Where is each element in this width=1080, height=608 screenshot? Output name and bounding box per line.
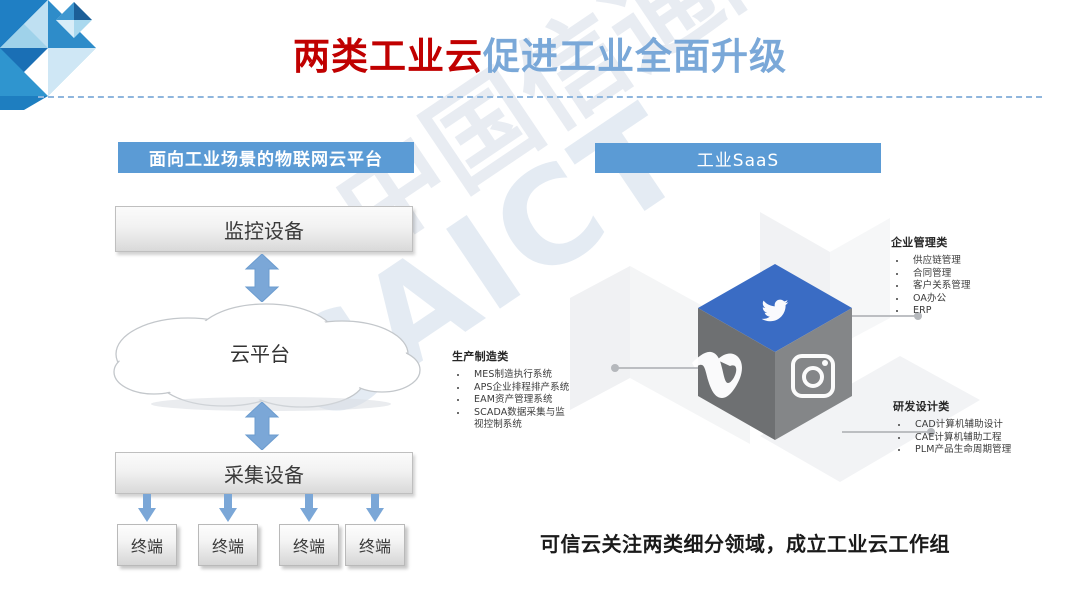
category-item: 供应链管理 xyxy=(891,255,1051,268)
category-rnd-design: 研发设计类 CAD计算机辅助设计 CAE计算机辅助工程 PLM产品生命周期管理 xyxy=(893,398,1063,457)
arrow-cloud-collect xyxy=(244,402,280,450)
terminal-box: 终端 xyxy=(117,524,177,566)
category-item: 合同管理 xyxy=(891,268,1051,281)
arrow-to-terminal-2 xyxy=(219,494,237,522)
arrow-to-terminal-3 xyxy=(300,494,318,522)
category-item-list: 供应链管理 合同管理 客户关系管理 OA办公 ERP xyxy=(891,255,1051,318)
category-item: SCADA数据采集与监视控制系统 xyxy=(452,407,572,432)
right-panel-header: 工业SaaS xyxy=(595,143,881,173)
left-panel-header: 面向工业场景的物联网云平台 xyxy=(118,142,414,173)
collect-device-box: 采集设备 xyxy=(115,452,413,494)
terminal-box: 终端 xyxy=(198,524,258,566)
title-divider xyxy=(38,96,1042,98)
category-item: EAM资产管理系统 xyxy=(452,394,572,407)
terminal-box: 终端 xyxy=(345,524,405,566)
category-enterprise-management: 企业管理类 供应链管理 合同管理 客户关系管理 OA办公 ERP xyxy=(891,234,1051,318)
terminal-box: 终端 xyxy=(279,524,339,566)
bottom-caption: 可信云关注两类细分领域，成立工业云工作组 xyxy=(540,528,950,557)
category-item: CAE计算机辅助工程 xyxy=(893,432,1063,445)
monitor-device-box: 监控设备 xyxy=(115,206,413,252)
arrow-to-terminal-4 xyxy=(366,494,384,522)
category-item: OA办公 xyxy=(891,293,1051,306)
cloud-platform-label: 云平台 xyxy=(180,338,340,367)
category-manufacturing: 生产制造类 MES制造执行系统 APS企业排程排产系统 EAM资产管理系统 SC… xyxy=(452,348,572,432)
category-title: 企业管理类 xyxy=(891,234,1051,250)
page-title-blue: 促进工业全面升级 xyxy=(483,35,787,78)
slide-canvas: 中国信通院 CAICT 两类工业云促进工业全面升级 面向工业场景的物联网云平台 … xyxy=(0,0,1080,608)
category-title: 生产制造类 xyxy=(452,348,572,364)
category-item: CAD计算机辅助设计 xyxy=(893,419,1063,432)
page-title: 两类工业云促进工业全面升级 xyxy=(0,26,1080,80)
category-item: MES制造执行系统 xyxy=(452,369,572,382)
category-item-list: CAD计算机辅助设计 CAE计算机辅助工程 PLM产品生命周期管理 xyxy=(893,419,1063,457)
category-item: PLM产品生命周期管理 xyxy=(893,444,1063,457)
arrow-monitor-cloud xyxy=(244,254,280,302)
category-item: ERP xyxy=(891,305,1051,318)
category-item-list: MES制造执行系统 APS企业排程排产系统 EAM资产管理系统 SCADA数据采… xyxy=(452,369,572,432)
category-item: 客户关系管理 xyxy=(891,280,1051,293)
category-item: APS企业排程排产系统 xyxy=(452,382,572,395)
page-title-red: 两类工业云 xyxy=(293,35,483,78)
arrow-to-terminal-1 xyxy=(138,494,156,522)
category-title: 研发设计类 xyxy=(893,398,1063,414)
